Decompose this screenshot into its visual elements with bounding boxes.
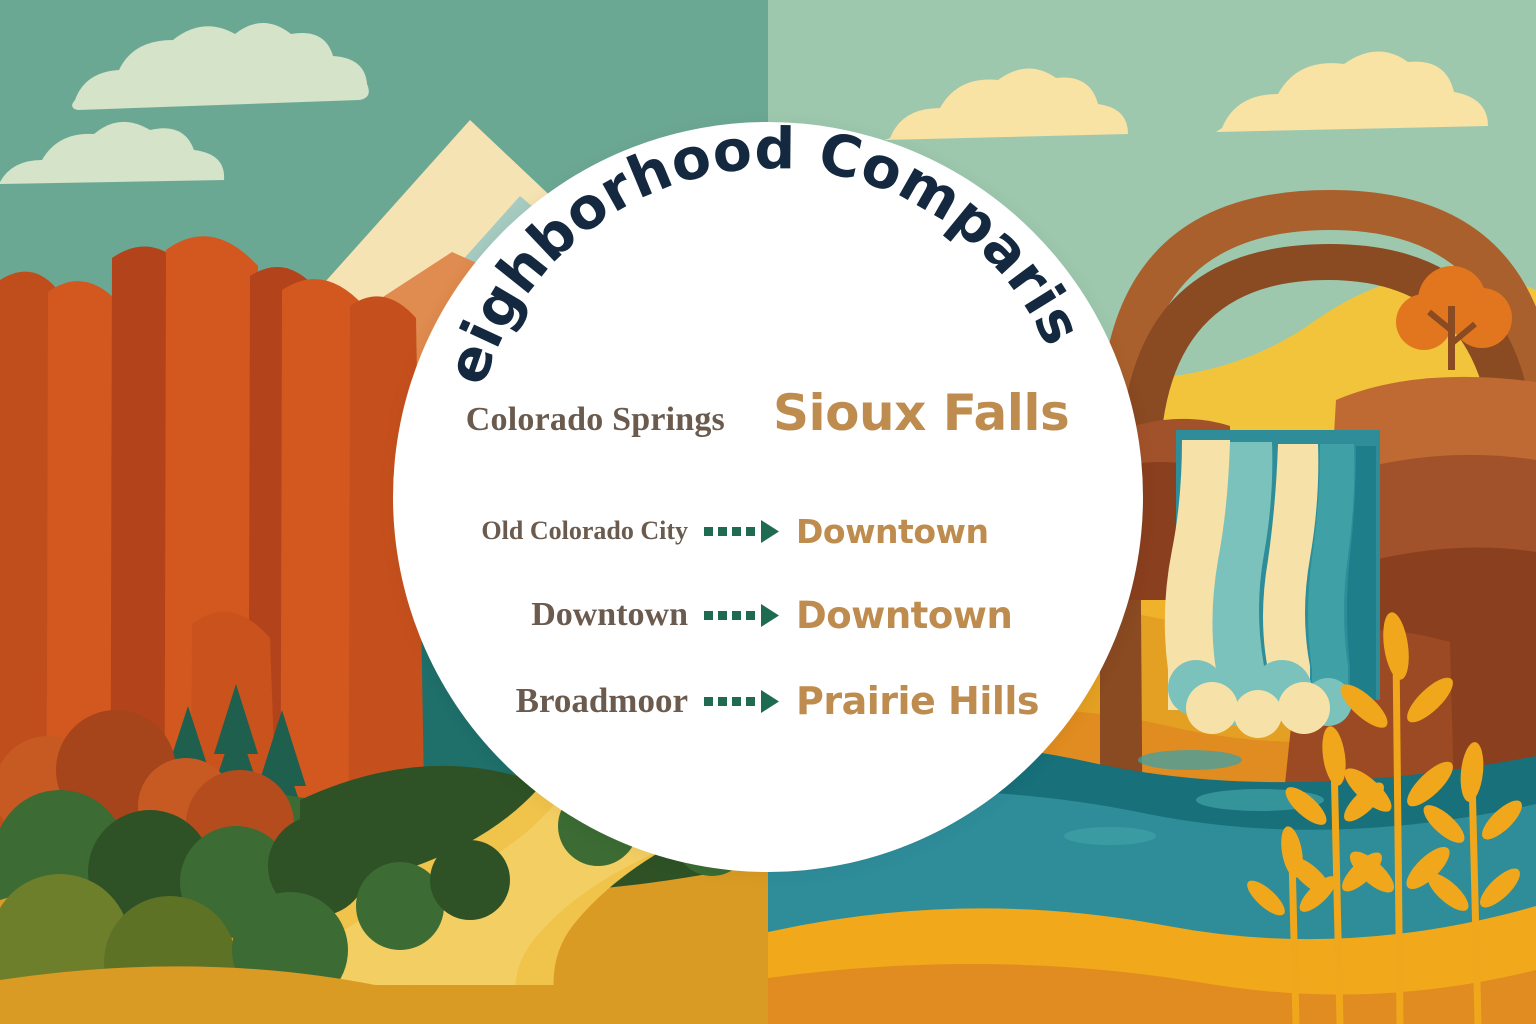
infographic-canvas: Neighborhood Comparison Colorado Springs… [0,0,1536,1024]
comparison-left-neighborhood: Broadmoor [424,681,702,721]
comparison-row[interactable]: Old Colorado City Downtown [393,490,1143,572]
dashed-arrow-right-icon [702,518,782,544]
comparison-right-neighborhood: Downtown [782,512,1112,551]
comparison-row[interactable]: Downtown Downtown [393,572,1143,658]
comparison-right-neighborhood: Downtown [782,594,1112,637]
right-city-name: Sioux Falls [749,384,1143,442]
comparison-right-neighborhood: Prairie Hills [782,679,1112,723]
left-city-name: Colorado Springs [393,401,749,439]
comparison-circle-card: Neighborhood Comparison Colorado Springs… [393,122,1143,872]
comparison-left-neighborhood: Downtown [424,596,702,634]
dashed-arrow-right-icon [702,602,782,628]
comparison-row[interactable]: Broadmoor Prairie Hills [393,658,1143,744]
comparison-left-neighborhood: Old Colorado City [424,516,702,546]
dashed-arrow-right-icon [702,688,782,714]
city-header-row: Colorado Springs Sioux Falls [393,384,1143,442]
comparison-rows: Old Colorado City Downtown D [393,490,1143,744]
